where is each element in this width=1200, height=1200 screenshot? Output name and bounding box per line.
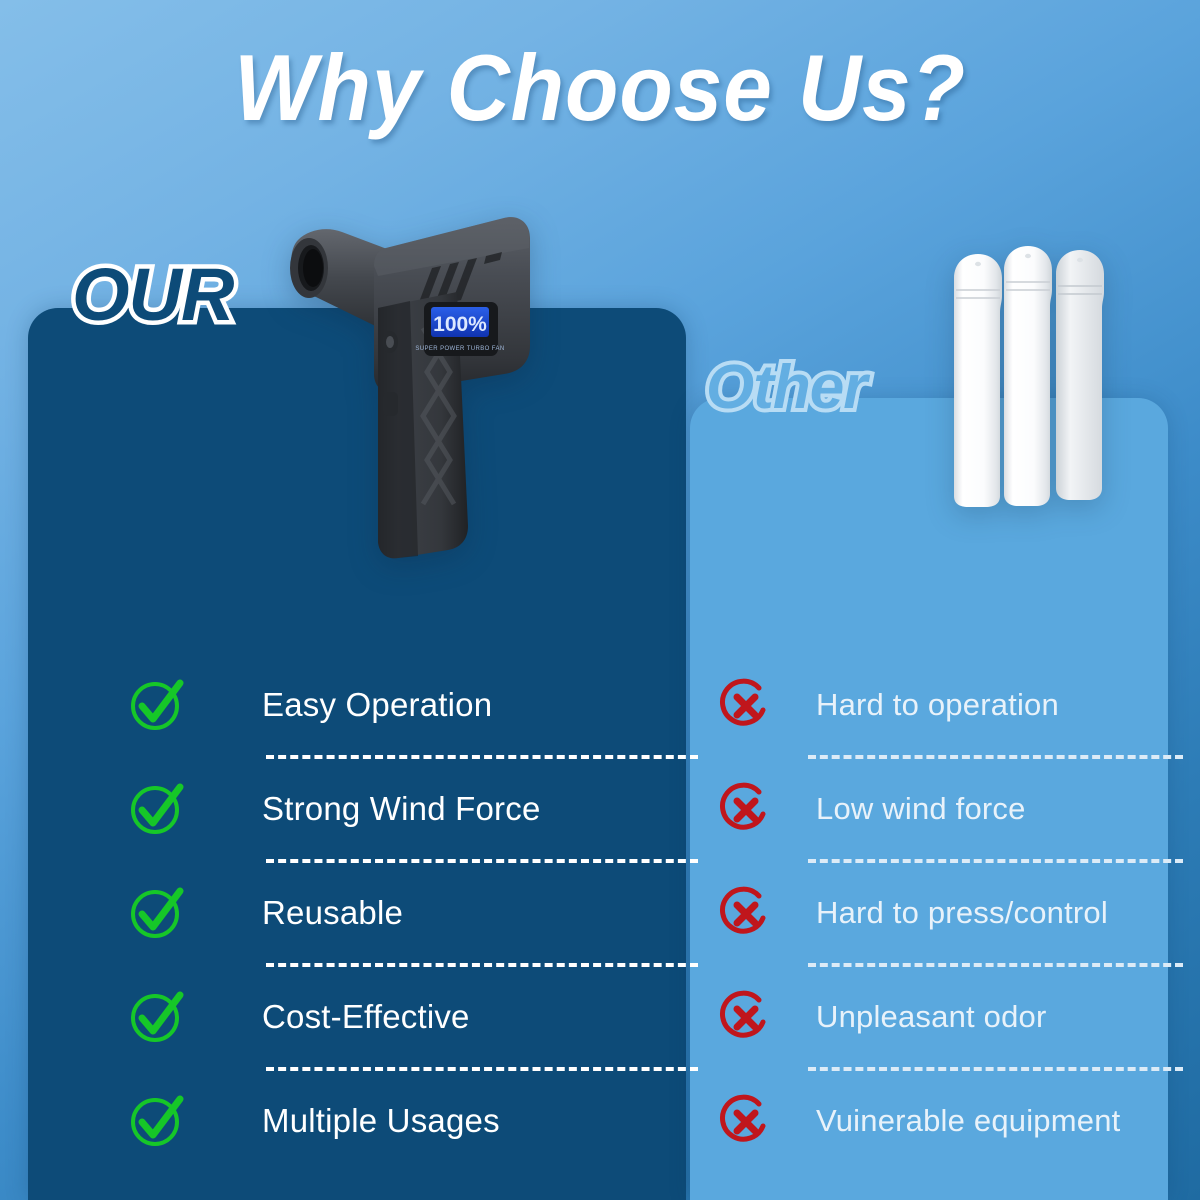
spray-can-front xyxy=(954,254,1002,507)
lcd-caption: SUPER POWER TURBO FAN xyxy=(415,346,504,352)
other-heading: Other xyxy=(706,352,866,423)
our-item-label: Reusable xyxy=(262,894,403,932)
red-cross-circle-icon xyxy=(718,781,774,837)
red-cross-circle-icon xyxy=(718,885,774,941)
list-item: Hard to operation xyxy=(690,655,1168,755)
red-cross-circle-icon xyxy=(718,677,774,733)
green-check-circle-icon xyxy=(128,989,184,1045)
list-item: Low wind force xyxy=(690,759,1168,859)
list-item: Easy Operation xyxy=(28,655,686,755)
other-item-label: Vuinerable equipment xyxy=(816,1103,1120,1139)
our-feature-list: Easy Operation Strong Wind Force Reusabl… xyxy=(28,655,686,1171)
other-item-label: Unpleasant odor xyxy=(816,999,1047,1035)
red-cross-circle-icon xyxy=(718,989,774,1045)
green-check-circle-icon xyxy=(128,885,184,941)
other-item-label: Hard to press/control xyxy=(816,895,1108,931)
list-item: Strong Wind Force xyxy=(28,759,686,859)
lcd-value: 100% xyxy=(433,313,487,336)
page-title: Why Choose Us? xyxy=(42,34,1158,142)
list-item: Hard to press/control xyxy=(690,863,1168,963)
our-item-label: Easy Operation xyxy=(262,686,492,724)
lcd-display: 100% SUPER POWER TURBO FAN xyxy=(415,302,504,356)
our-item-label: Strong Wind Force xyxy=(262,790,541,828)
red-cross-circle-icon xyxy=(718,1093,774,1149)
other-item-label: Low wind force xyxy=(816,791,1026,827)
our-item-label: Cost-Effective xyxy=(262,998,470,1036)
green-check-circle-icon xyxy=(128,1093,184,1149)
other-feature-list: Hard to operation Low wind force Hard to… xyxy=(690,655,1168,1171)
mode-button xyxy=(383,392,398,416)
list-item: Reusable xyxy=(28,863,686,963)
turbo-fan-product-image: 100% SUPER POWER TURBO FAN xyxy=(282,196,532,566)
our-heading: OUR xyxy=(72,252,233,337)
green-check-circle-icon xyxy=(128,781,184,837)
list-item: Unpleasant odor xyxy=(690,967,1168,1067)
list-item: Multiple Usages xyxy=(28,1071,686,1171)
other-item-label: Hard to operation xyxy=(816,687,1059,723)
green-check-circle-icon xyxy=(128,677,184,733)
spray-can-middle xyxy=(1004,246,1052,506)
our-item-label: Multiple Usages xyxy=(262,1102,500,1140)
spray-can-back xyxy=(1056,250,1104,500)
spray-cans-image xyxy=(948,232,1128,507)
list-item: Vuinerable equipment xyxy=(690,1071,1168,1171)
list-item: Cost-Effective xyxy=(28,967,686,1067)
